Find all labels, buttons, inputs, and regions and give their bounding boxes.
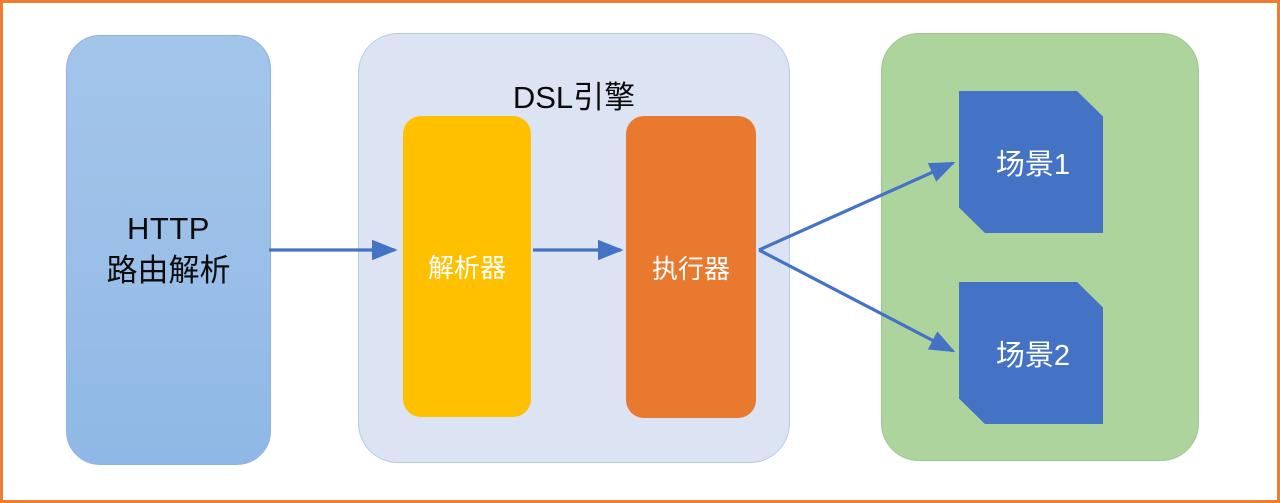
node-scene-1[interactable]: 场景1 [959, 91, 1103, 233]
node-http-router[interactable]: HTTP 路由解析 [66, 35, 271, 465]
dsl-engine-title: DSL引擎 [359, 72, 789, 117]
node-executor[interactable]: 执行器 [626, 116, 756, 418]
node-executor-label: 执行器 [652, 249, 730, 286]
node-scene-2-label: 场景2 [992, 332, 1070, 374]
node-scenes-container[interactable]: 场景1 场景2 [881, 33, 1199, 461]
http-title-line-2: 路由解析 [107, 249, 231, 293]
node-scene-1-label: 场景1 [992, 141, 1070, 183]
node-parser-label: 解析器 [428, 248, 506, 285]
node-dsl-engine-container[interactable]: DSL引擎 解析器 执行器 [358, 33, 790, 463]
node-parser[interactable]: 解析器 [403, 116, 531, 417]
http-title-line-1: HTTP [127, 208, 210, 249]
diagram-canvas: HTTP 路由解析 DSL引擎 解析器 执行器 场景1 场景2 [0, 0, 1280, 503]
node-scene-2[interactable]: 场景2 [959, 282, 1103, 424]
